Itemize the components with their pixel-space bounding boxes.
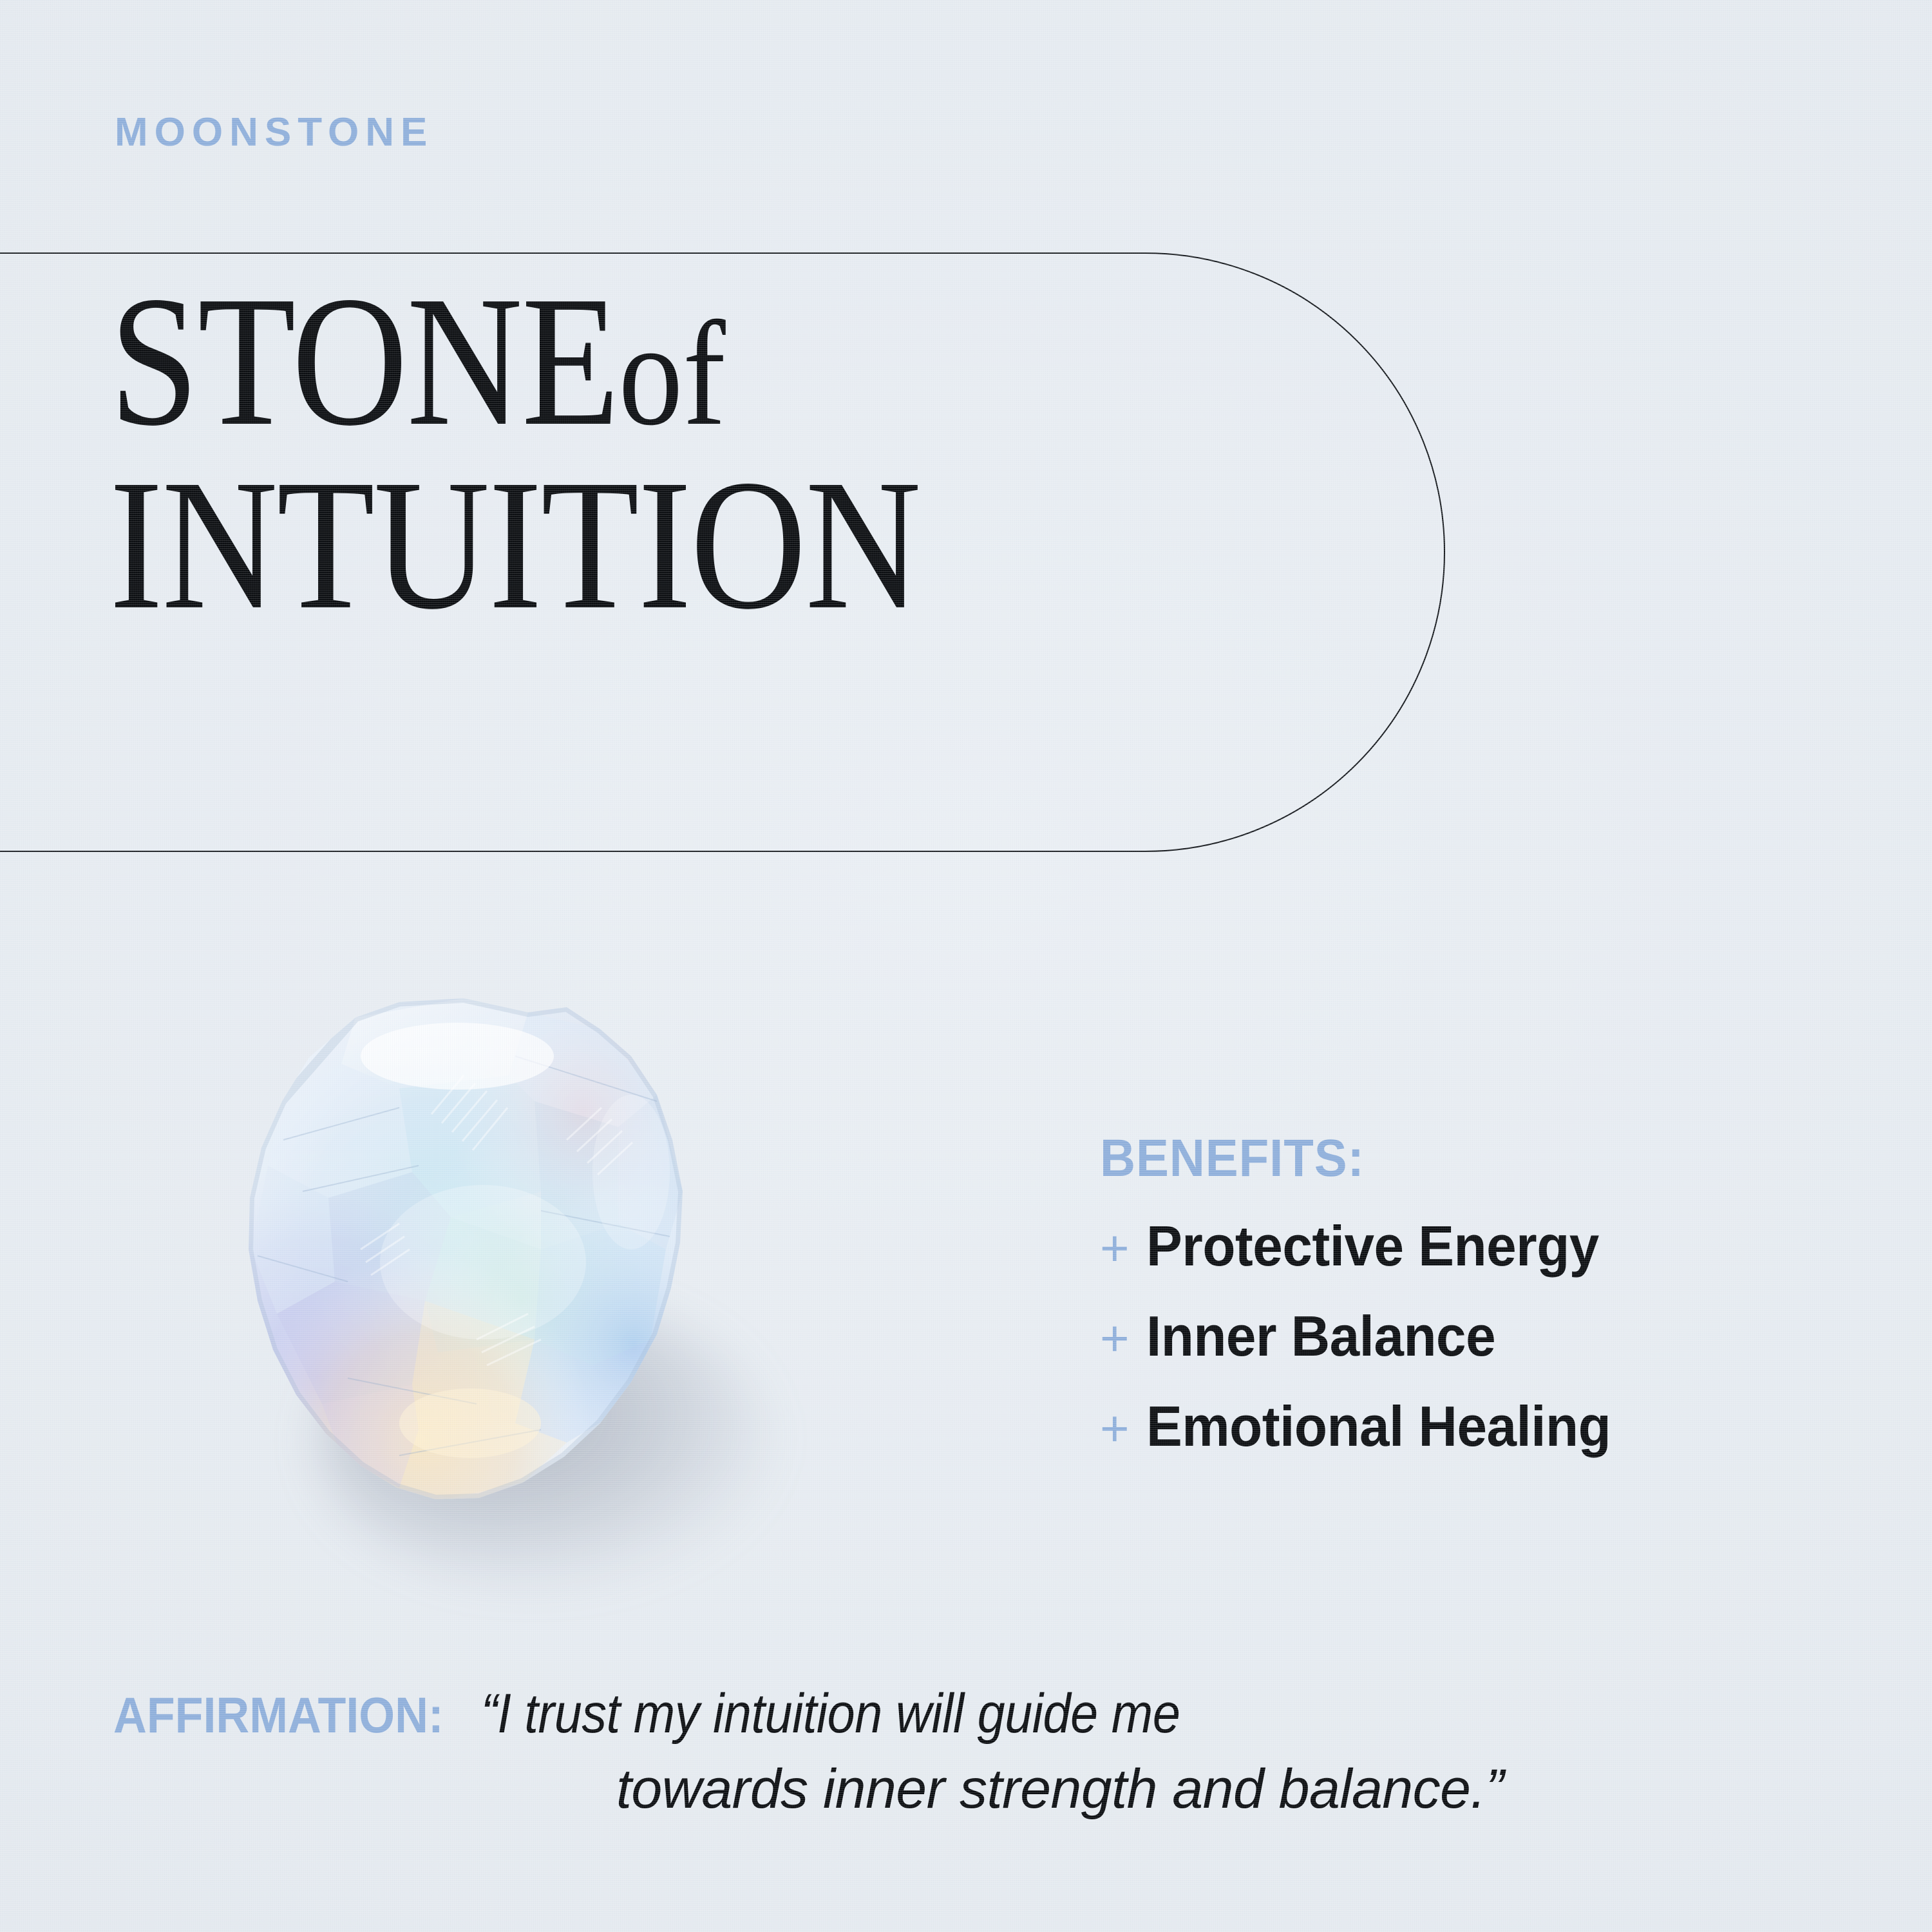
- moonstone-crystal-icon: [206, 979, 715, 1533]
- benefit-item-2: + Emotional Healing: [1100, 1394, 1834, 1459]
- benefit-item-0: + Protective Energy: [1100, 1213, 1834, 1279]
- plus-icon: +: [1100, 1403, 1146, 1454]
- title-line1-main: STONE: [109, 258, 619, 464]
- plus-icon: +: [1100, 1223, 1146, 1273]
- affirmation-quote-line-1: “I trust my intuition will guide me: [481, 1682, 1180, 1746]
- eyebrow-stone-name: MOONSTONE: [115, 109, 433, 155]
- benefit-label-2: Emotional Healing: [1146, 1394, 1611, 1459]
- benefits-heading: BENEFITS:: [1100, 1128, 1783, 1189]
- benefit-item-1: + Inner Balance: [1100, 1303, 1834, 1369]
- affirmation-label: AFFIRMATION:: [113, 1686, 444, 1745]
- affirmation-quote-line-2: towards inner strength and balance.”: [113, 1757, 1839, 1821]
- title-line1-of: of: [619, 291, 726, 457]
- plus-icon: +: [1100, 1313, 1146, 1363]
- title-line2: INTUITION: [109, 460, 1273, 629]
- benefits-section: BENEFITS: + Protective Energy + Inner Ba…: [1100, 1128, 1834, 1459]
- benefit-label-1: Inner Balance: [1146, 1303, 1495, 1369]
- page-title: STONEof INTUITION: [109, 277, 1462, 629]
- benefit-label-0: Protective Energy: [1146, 1213, 1599, 1279]
- affirmation-section: AFFIRMATION: “I trust my intuition will …: [113, 1682, 1839, 1821]
- moonstone-info-card: MOONSTONE STONEof INTUITION: [0, 0, 1932, 1932]
- crystal-figure: [206, 979, 773, 1610]
